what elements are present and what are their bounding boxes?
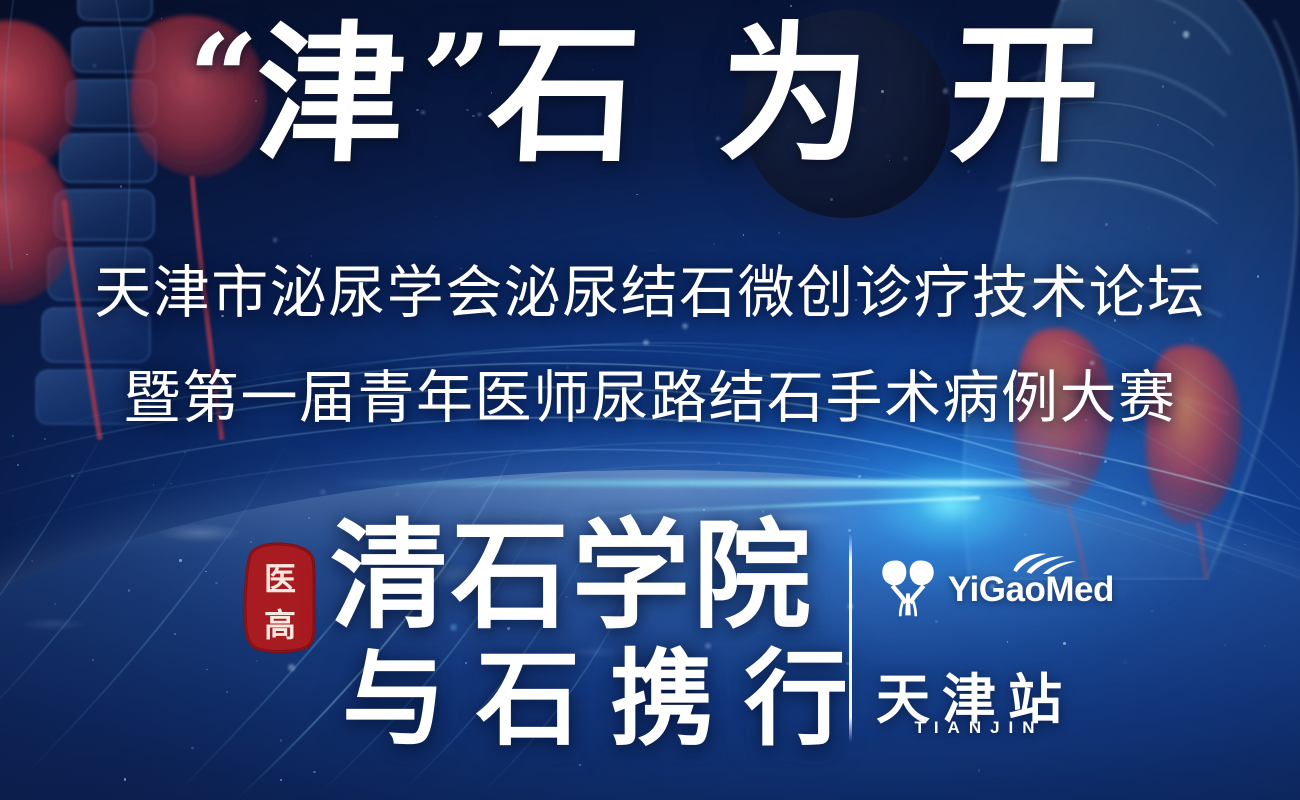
poster-content: “津”石 为 开 天津市泌尿学会泌尿结石微创诊疗技术论坛 暨第一届青年医师尿路结…	[0, 0, 1300, 800]
academy-tagline: 与石携行	[342, 648, 878, 752]
academy-name: 清石学院	[330, 518, 814, 636]
headline-jin-character: 津	[251, 7, 424, 183]
headline-calligraphy: “津”石 为 开	[0, 14, 1300, 176]
yigaomed-logo: YiGaoMed	[876, 556, 1086, 620]
station-name-en: TIANJIN	[879, 718, 1079, 738]
seal-character-bottom: 高	[236, 600, 324, 646]
subtitle-line-1: 天津市泌尿学会泌尿结石微创诊疗技术论坛	[0, 247, 1300, 329]
seal-character-top: 医	[236, 554, 324, 600]
kidney-icon	[876, 556, 940, 618]
vertical-divider	[849, 534, 852, 742]
red-seal-stamp: 医 高	[236, 540, 324, 656]
headline-open-quote: “	[184, 8, 260, 149]
headline-close-quote: ”	[417, 8, 493, 149]
headline-rest: 石 为 开	[484, 7, 1118, 183]
company-name: YiGaoMed	[948, 570, 1114, 610]
subtitle-line-2: 暨第一届青年医师尿路结石手术病例大赛	[0, 352, 1300, 434]
conference-poster: “津”石 为 开 天津市泌尿学会泌尿结石微创诊疗技术论坛 暨第一届青年医师尿路结…	[0, 0, 1300, 800]
